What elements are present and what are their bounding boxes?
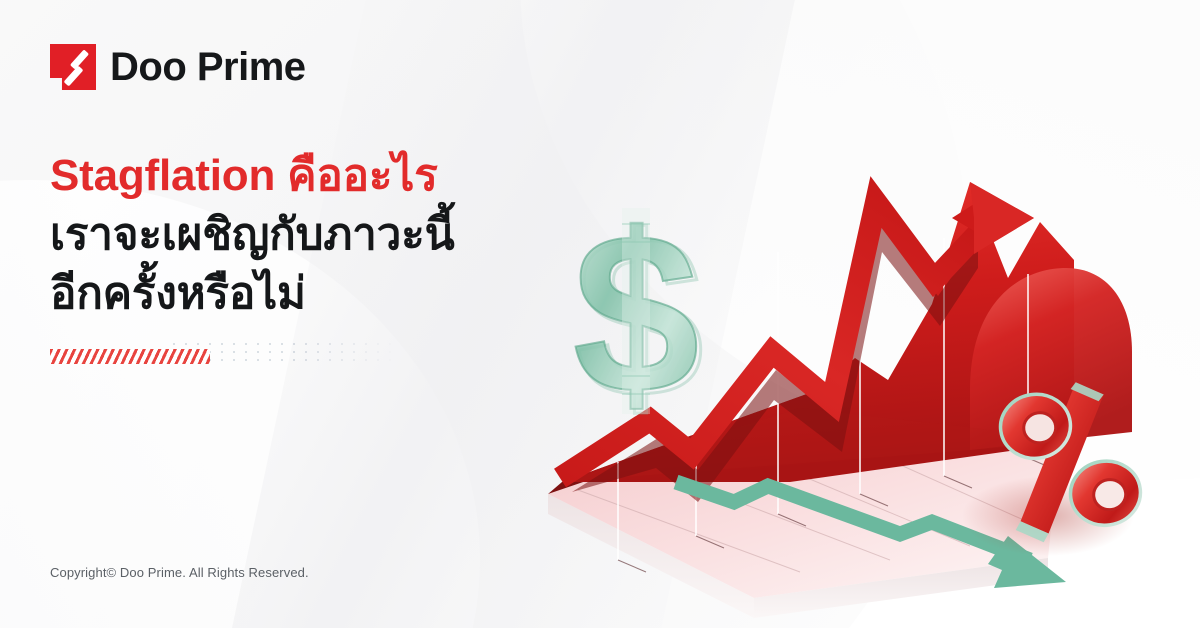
copyright-text: Copyright© Doo Prime. All Rights Reserve… bbox=[50, 565, 309, 580]
brand-logo[interactable]: Doo Prime bbox=[50, 44, 306, 90]
stagflation-3d-chart: $ $ $ bbox=[500, 90, 1140, 610]
dollar-sign-icon: $ $ $ bbox=[573, 187, 704, 445]
diagonal-stripe-bar-icon bbox=[50, 349, 210, 364]
headline-divider bbox=[50, 340, 400, 374]
banner-root: Doo Prime Stagflation คืออะไร เราจะเผชิญ… bbox=[0, 0, 1200, 628]
brand-name: Doo Prime bbox=[110, 47, 306, 87]
doo-prime-logo-mark-icon bbox=[50, 44, 96, 90]
